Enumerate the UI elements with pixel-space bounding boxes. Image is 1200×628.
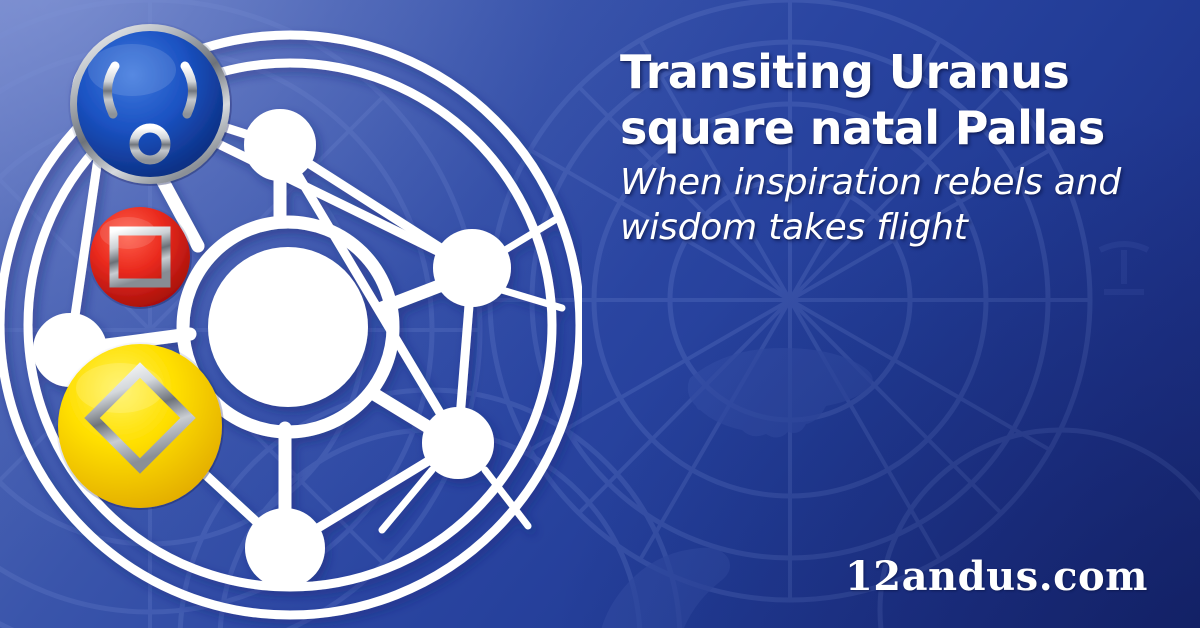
badge-pallas[interactable] (56, 342, 224, 510)
astrology-banner: Transiting Uranus square natal Pallas Wh… (0, 0, 1200, 628)
badge-uranus[interactable] (68, 22, 232, 186)
page-subtitle: When inspiration rebels and wisdom takes… (620, 160, 1180, 250)
page-title: Transiting Uranus square natal Pallas (620, 44, 1180, 156)
badge-square-aspect[interactable] (88, 205, 192, 309)
headline-block: Transiting Uranus square natal Pallas Wh… (620, 44, 1180, 250)
square-badge-body (90, 207, 190, 307)
site-watermark[interactable]: 12andus.com (845, 553, 1148, 600)
